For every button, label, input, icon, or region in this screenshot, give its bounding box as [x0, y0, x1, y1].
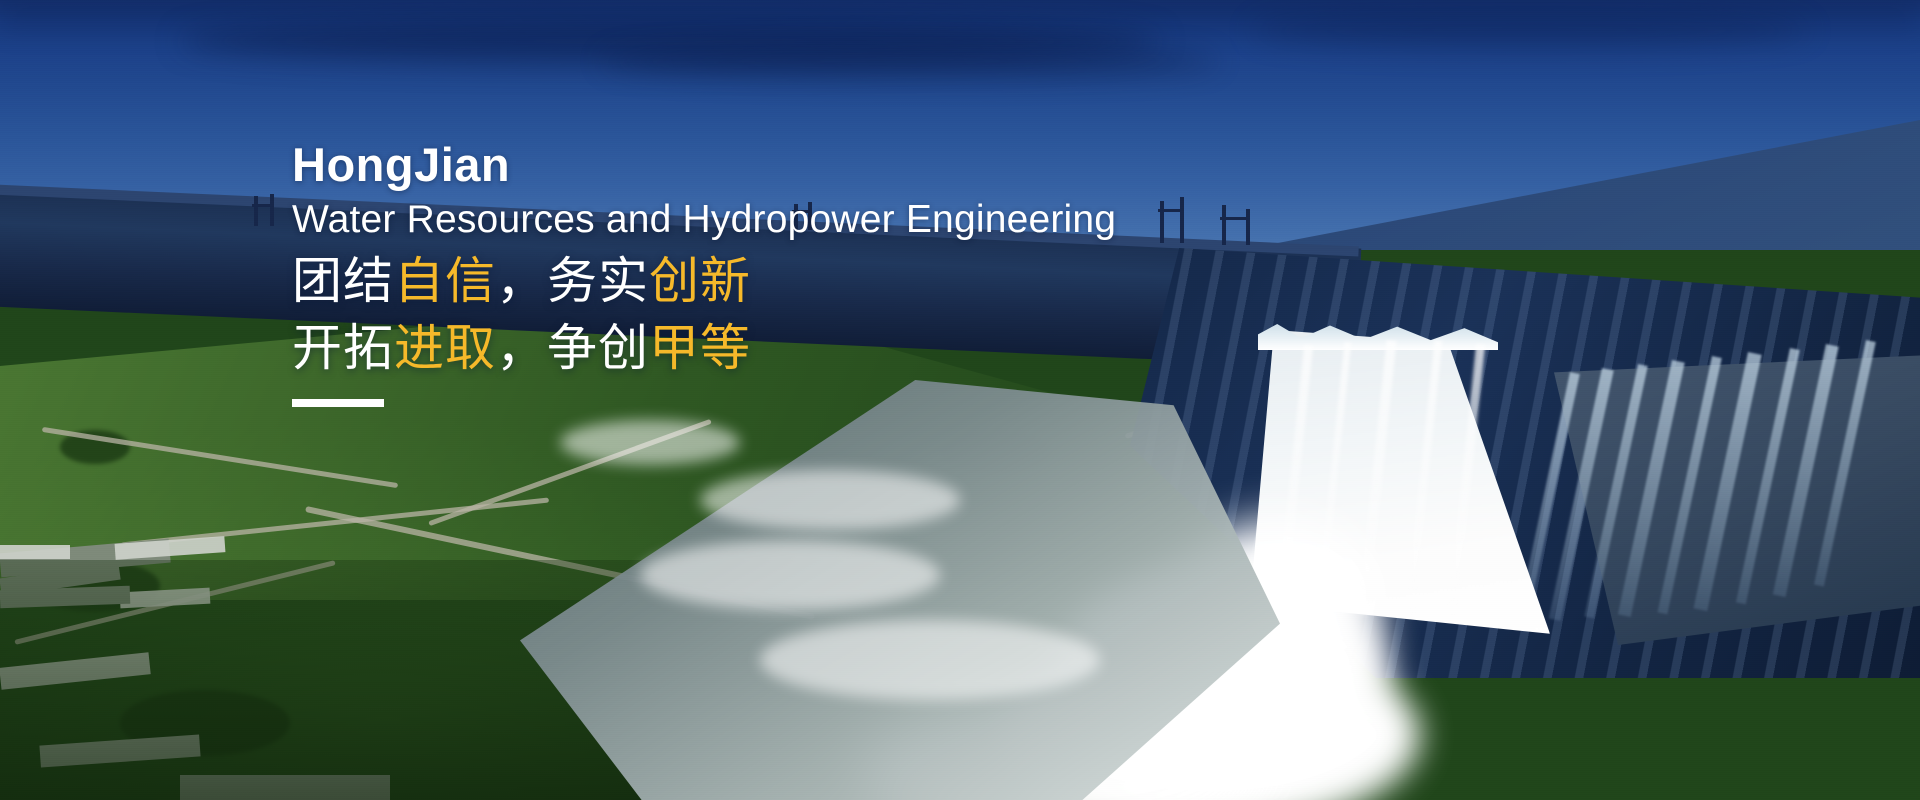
slogan-seg-accent: 甲等 [649, 320, 751, 376]
slogan-seg-accent: 进取 [394, 320, 496, 376]
hero-text-block: HongJian Water Resources and Hydropower … [292, 140, 1292, 407]
slogan-seg: 务实 [547, 253, 649, 309]
slogan-seg: 争创 [547, 320, 649, 376]
slogan-seg: ， [496, 253, 547, 309]
slogan-seg: 团结 [292, 253, 394, 309]
slogan-seg-accent: 自信 [394, 253, 496, 309]
river-rapids [700, 470, 960, 530]
slogan-line-1: 团结自信，务实创新 [292, 248, 1292, 315]
cloud-wisp-center [600, 44, 1220, 78]
slogan-seg: ， [496, 320, 547, 376]
river-rapids [560, 420, 740, 465]
page-subtitle: Water Resources and Hydropower Engineeri… [292, 198, 1292, 242]
page-title: HongJian [292, 140, 1292, 190]
slogan-line-2: 开拓进取，争创甲等 [292, 315, 1292, 382]
slogan-seg: 开拓 [292, 320, 394, 376]
hero-banner: HongJian Water Resources and Hydropower … [0, 0, 1920, 800]
slogan-seg-accent: 创新 [649, 253, 751, 309]
river-rapids [640, 540, 940, 610]
building [0, 545, 70, 559]
accent-underline [292, 399, 384, 407]
river-rapids [760, 620, 1100, 700]
cloud-wisp-right [1250, 10, 1810, 50]
